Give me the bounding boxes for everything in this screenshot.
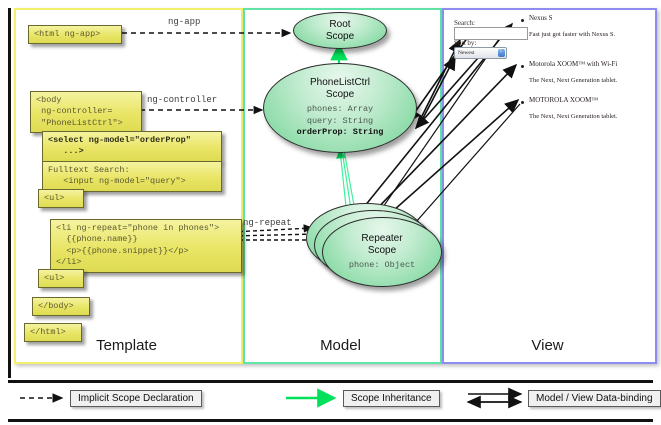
legend-top-rule [8, 380, 653, 383]
repeater-scope-title: Repeater Scope [361, 233, 402, 257]
phonelistctrl-scope-title: PhoneListCtrl Scope [310, 77, 370, 101]
code-box-ul-close-tag: <ul> [38, 269, 84, 288]
legend-item-scope-inheritance: Scope Inheritance [343, 390, 440, 407]
view-search-label: Search: [454, 19, 475, 27]
view-phone-snippet: The Next, Next Generation tablet. [529, 113, 617, 120]
legend-item-implicit-scope-declaration: Implicit Scope Declaration [70, 390, 202, 407]
code-box-body-close-tag: </body> [32, 297, 90, 316]
code-box-html-close-tag: </html> [24, 323, 82, 342]
list-bullet [521, 101, 524, 104]
legend-item-model-view-data-binding: Model / View Data-binding [528, 390, 661, 407]
ellipse-root-scope: Root Scope [293, 12, 387, 49]
column-label-view: View [442, 337, 653, 354]
chevron-updown-icon [498, 49, 505, 57]
view-phone-snippet: The Next, Next Generation tablet. [529, 77, 617, 84]
code-box-li-ng-repeat-tag: <li ng-repeat="phone in phones"> {{phone… [50, 219, 242, 273]
ellipse-phonelistctrl-scope: PhoneListCtrl Scope phones: Array query:… [263, 63, 417, 153]
repeater-scope-props: phone: Object [349, 260, 415, 271]
figure-left-rule [8, 8, 11, 378]
column-label-model: Model [243, 337, 438, 354]
view-phone-name: Nexus S [529, 14, 553, 22]
view-phone-snippet: Fast just got faster with Nexus S. [529, 31, 615, 38]
view-sort-select[interactable]: Newest [454, 47, 507, 59]
code-box-html-tag: <html ng-app> [28, 25, 122, 44]
code-box-ul-open-tag: <ul> [38, 189, 84, 208]
list-bullet [521, 65, 524, 68]
connector-label-ng-repeat: ng-repeat [243, 218, 292, 228]
diagram-canvas: Template Model View [0, 0, 661, 425]
view-phone-name: MOTOROLA XOOM™ [529, 96, 598, 104]
code-box-select-orderprop-tag: <select ng-model="orderProp" ...> [42, 131, 222, 162]
phonelistctrl-scope-props-plain: phones: Array query: String [307, 104, 373, 127]
view-phone-name: Motorola XOOM™ with Wi-Fi [529, 60, 617, 68]
root-scope-title: Root Scope [326, 19, 354, 43]
column-model [243, 8, 442, 364]
view-sort-label: Sort by: [454, 39, 476, 47]
list-bullet [521, 19, 524, 22]
phonelistctrl-scope-props-bold: orderProp: String [297, 127, 384, 138]
connector-label-ng-app: ng-app [168, 17, 200, 27]
legend-bottom-rule [8, 419, 653, 422]
connector-label-ng-controller: ng-controller [147, 95, 217, 105]
view-sort-selected-value: Newest [458, 50, 475, 56]
code-box-body-controller-tag: <body ng-controller= "PhoneListCtrl"> [30, 91, 142, 133]
ellipse-repeater-scope: Repeater Scope phone: Object [322, 217, 442, 287]
code-box-fulltext-search-input: Fulltext Search: <input ng-model="query"… [42, 161, 222, 192]
